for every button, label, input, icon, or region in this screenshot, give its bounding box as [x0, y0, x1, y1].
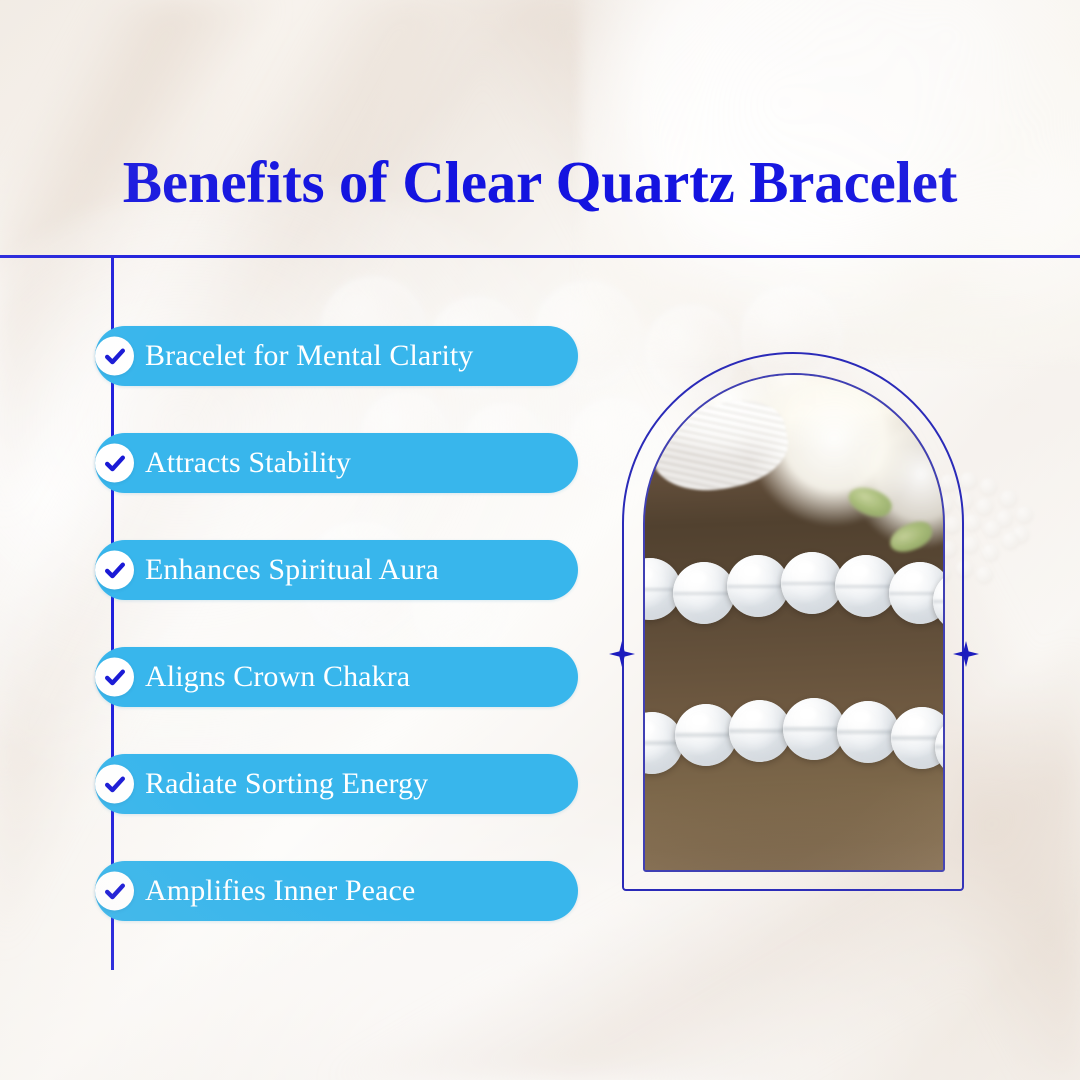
list-item[interactable]: Attracts Stability	[95, 433, 578, 493]
list-item[interactable]: Bracelet for Mental Clarity	[95, 326, 578, 386]
arch-outline-inner	[643, 373, 945, 872]
list-item[interactable]: Enhances Spiritual Aura	[95, 540, 578, 600]
check-icon	[95, 444, 134, 483]
bracelet-bead-row-bottom	[645, 702, 943, 766]
list-item-label: Radiate Sorting Energy	[145, 767, 428, 801]
check-icon	[95, 658, 134, 697]
poster-canvas: Benefits of Clear Quartz Bracelet Bracel…	[0, 0, 1080, 1080]
list-item-label: Bracelet for Mental Clarity	[145, 339, 473, 373]
bracelet-bead-row-top	[645, 558, 943, 622]
list-item-label: Enhances Spiritual Aura	[145, 553, 439, 587]
check-icon	[95, 872, 134, 911]
bracelet-photo	[645, 375, 943, 870]
page-title: Benefits of Clear Quartz Bracelet	[0, 152, 1080, 214]
list-item[interactable]: Amplifies Inner Peace	[95, 861, 578, 921]
check-icon	[95, 765, 134, 804]
check-icon	[95, 337, 134, 376]
benefits-list: Bracelet for Mental Clarity Attracts Sta…	[95, 326, 595, 921]
list-item[interactable]: Aligns Crown Chakra	[95, 647, 578, 707]
header-divider-horizontal	[0, 255, 1080, 258]
feature-image-frame	[622, 352, 968, 895]
list-item-label: Amplifies Inner Peace	[145, 874, 415, 908]
list-item-label: Attracts Stability	[145, 446, 351, 480]
list-item-label: Aligns Crown Chakra	[145, 660, 410, 694]
check-icon	[95, 551, 134, 590]
list-item[interactable]: Radiate Sorting Energy	[95, 754, 578, 814]
